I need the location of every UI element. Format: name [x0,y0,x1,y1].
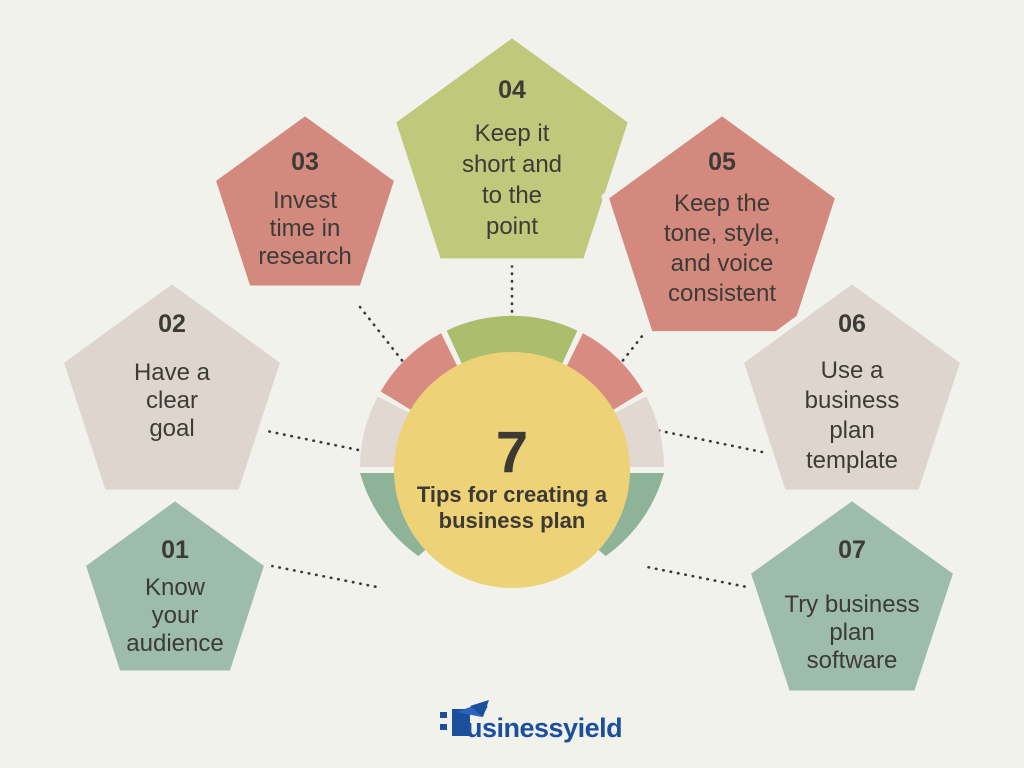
footer-logo[interactable]: usinessyield [0,0,1024,768]
infographic-canvas: 7 Tips for creating a business plan 01 K… [0,0,1024,768]
brand-wordmark: usinessyield [466,713,622,743]
